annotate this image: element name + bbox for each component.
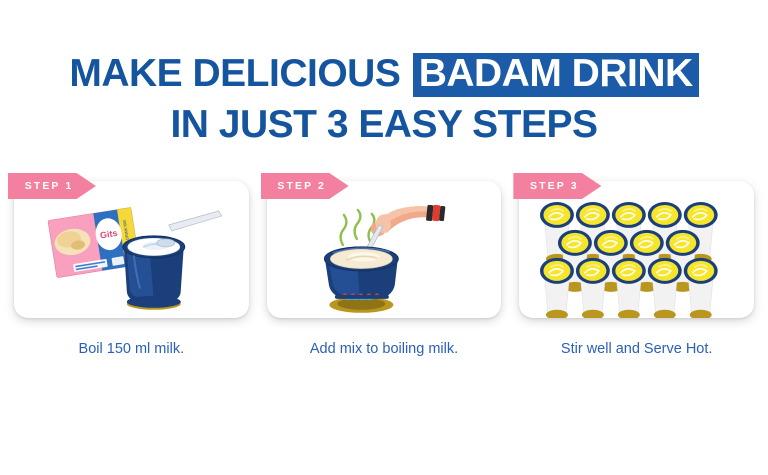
page-title: MAKE DELICIOUS BADAM DRINK IN JUST 3 EAS…: [0, 52, 768, 147]
title-line-2: IN JUST 3 EASY STEPS: [0, 103, 768, 147]
step-caption-1: Boil 150 ml milk.: [14, 340, 249, 358]
hand-stirring-pot-icon: [267, 181, 502, 318]
step-card-3-art: [519, 181, 754, 318]
milk-packet-and-pot-icon: BADAM DRINK MIX Gits: [14, 181, 249, 318]
step-card-2-art: [267, 181, 502, 318]
title-highlight: BADAM DRINK: [413, 53, 699, 97]
step-card-2[interactable]: STEP 2: [267, 181, 502, 318]
step-card-1[interactable]: BADAM DRINK MIX Gits: [14, 181, 249, 318]
step-card-1-art: BADAM DRINK MIX Gits: [14, 181, 249, 318]
title-line-1: MAKE DELICIOUS BADAM DRINK: [0, 52, 768, 97]
step-caption-3: Stir well and Serve Hot.: [519, 340, 754, 358]
steps-row: BADAM DRINK MIX Gits: [14, 181, 754, 318]
captions-row: Boil 150 ml milk. Add mix to boiling mil…: [14, 340, 754, 358]
step-caption-2: Add mix to boiling milk.: [267, 340, 502, 358]
title-line-1-prefix: MAKE DELICIOUS: [69, 52, 410, 95]
step-card-3[interactable]: STEP 3: [519, 181, 754, 318]
badam-drink-glasses-icon: [519, 181, 754, 318]
